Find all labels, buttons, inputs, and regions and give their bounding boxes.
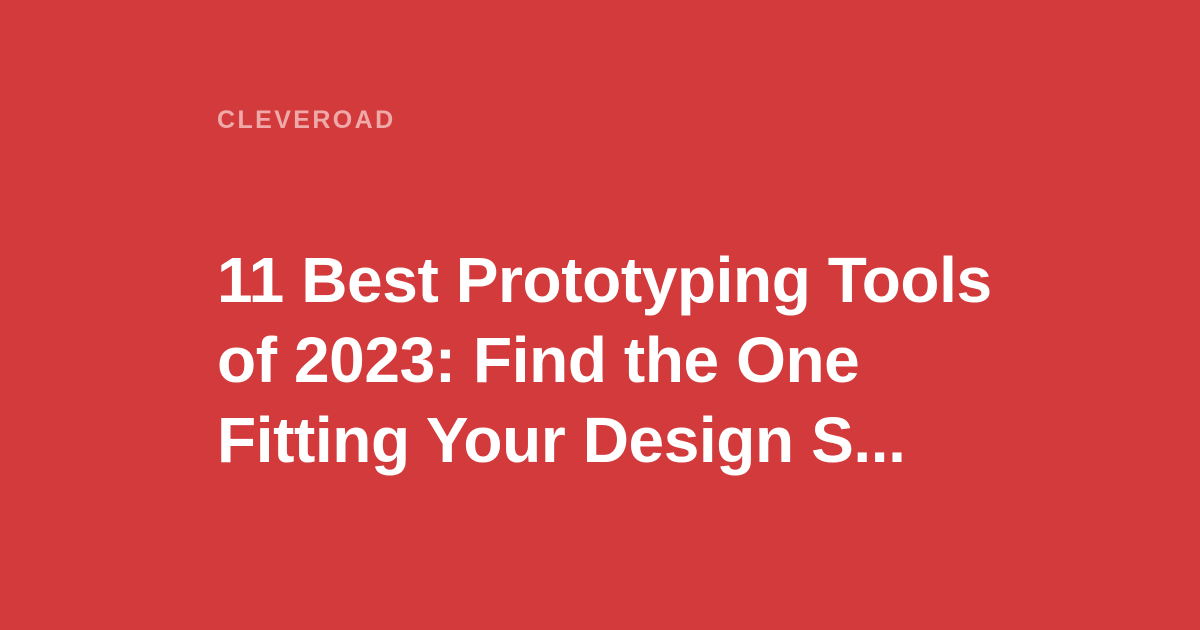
page-title-line-1: 11 Best Prototyping Tools [217, 240, 1007, 320]
page-title-line-3: Fitting Your Design S... [217, 400, 1007, 480]
og-share-card: CLEVEROAD 11 Best Prototyping Tools of 2… [0, 0, 1200, 630]
brand-logo-cleveroad[interactable]: CLEVEROAD [217, 108, 396, 133]
page-title-line-2: of 2023: Find the One [217, 320, 1007, 400]
page-title: 11 Best Prototyping Tools of 2023: Find … [217, 240, 1007, 480]
